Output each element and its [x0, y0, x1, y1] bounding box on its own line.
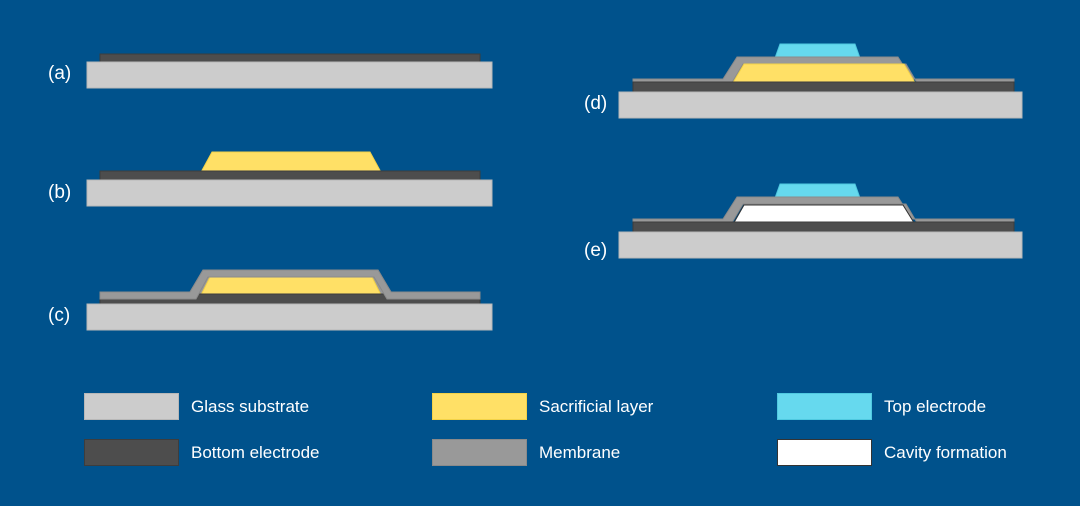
legend-item-membrane: Membrane: [432, 439, 620, 466]
legend-swatch-top-electrode: [777, 393, 872, 420]
legend-swatch-sacrificial-layer: [432, 393, 527, 420]
panel-d-bottom-electrode: [633, 82, 1014, 93]
legend-label-top-electrode: Top electrode: [884, 397, 986, 417]
panel-e-glass-substrate: [619, 232, 1022, 258]
legend-item-sacrificial-layer: Sacrificial layer: [432, 393, 653, 420]
panel-a-glass-substrate: [87, 62, 492, 88]
legend-swatch-cavity-formation: [777, 439, 872, 466]
legend-label-bottom-electrode: Bottom electrode: [191, 443, 320, 463]
panel-c-glass-substrate: [87, 304, 492, 330]
panel-e-stack: [619, 184, 1022, 258]
legend-label-sacrificial-layer: Sacrificial layer: [539, 397, 653, 417]
legend-label-glass-substrate: Glass substrate: [191, 397, 309, 417]
legend-swatch-membrane: [432, 439, 527, 466]
legend-item-cavity-formation: Cavity formation: [777, 439, 1007, 466]
panel-b-stack: [87, 152, 492, 206]
panel-d-stack: [619, 44, 1022, 118]
legend-item-top-electrode: Top electrode: [777, 393, 986, 420]
process-flow-diagram: (a) (b) (c) (d) (e): [0, 0, 1080, 506]
panel-e-top-electrode: [775, 184, 860, 198]
legend-label-cavity-formation: Cavity formation: [884, 443, 1007, 463]
panel-d-glass-substrate: [619, 92, 1022, 118]
panel-c-stack: [87, 270, 492, 330]
cross-section-drawings: [0, 0, 1080, 506]
legend-swatch-glass-substrate: [84, 393, 179, 420]
panel-b-glass-substrate: [87, 180, 492, 206]
legend-item-bottom-electrode: Bottom electrode: [84, 439, 320, 466]
panel-d-top-electrode: [775, 44, 860, 58]
panel-e-bottom-electrode: [633, 222, 1014, 233]
legend-swatch-bottom-electrode: [84, 439, 179, 466]
panel-a-stack: [87, 54, 492, 88]
legend-item-glass-substrate: Glass substrate: [84, 393, 309, 420]
legend-label-membrane: Membrane: [539, 443, 620, 463]
